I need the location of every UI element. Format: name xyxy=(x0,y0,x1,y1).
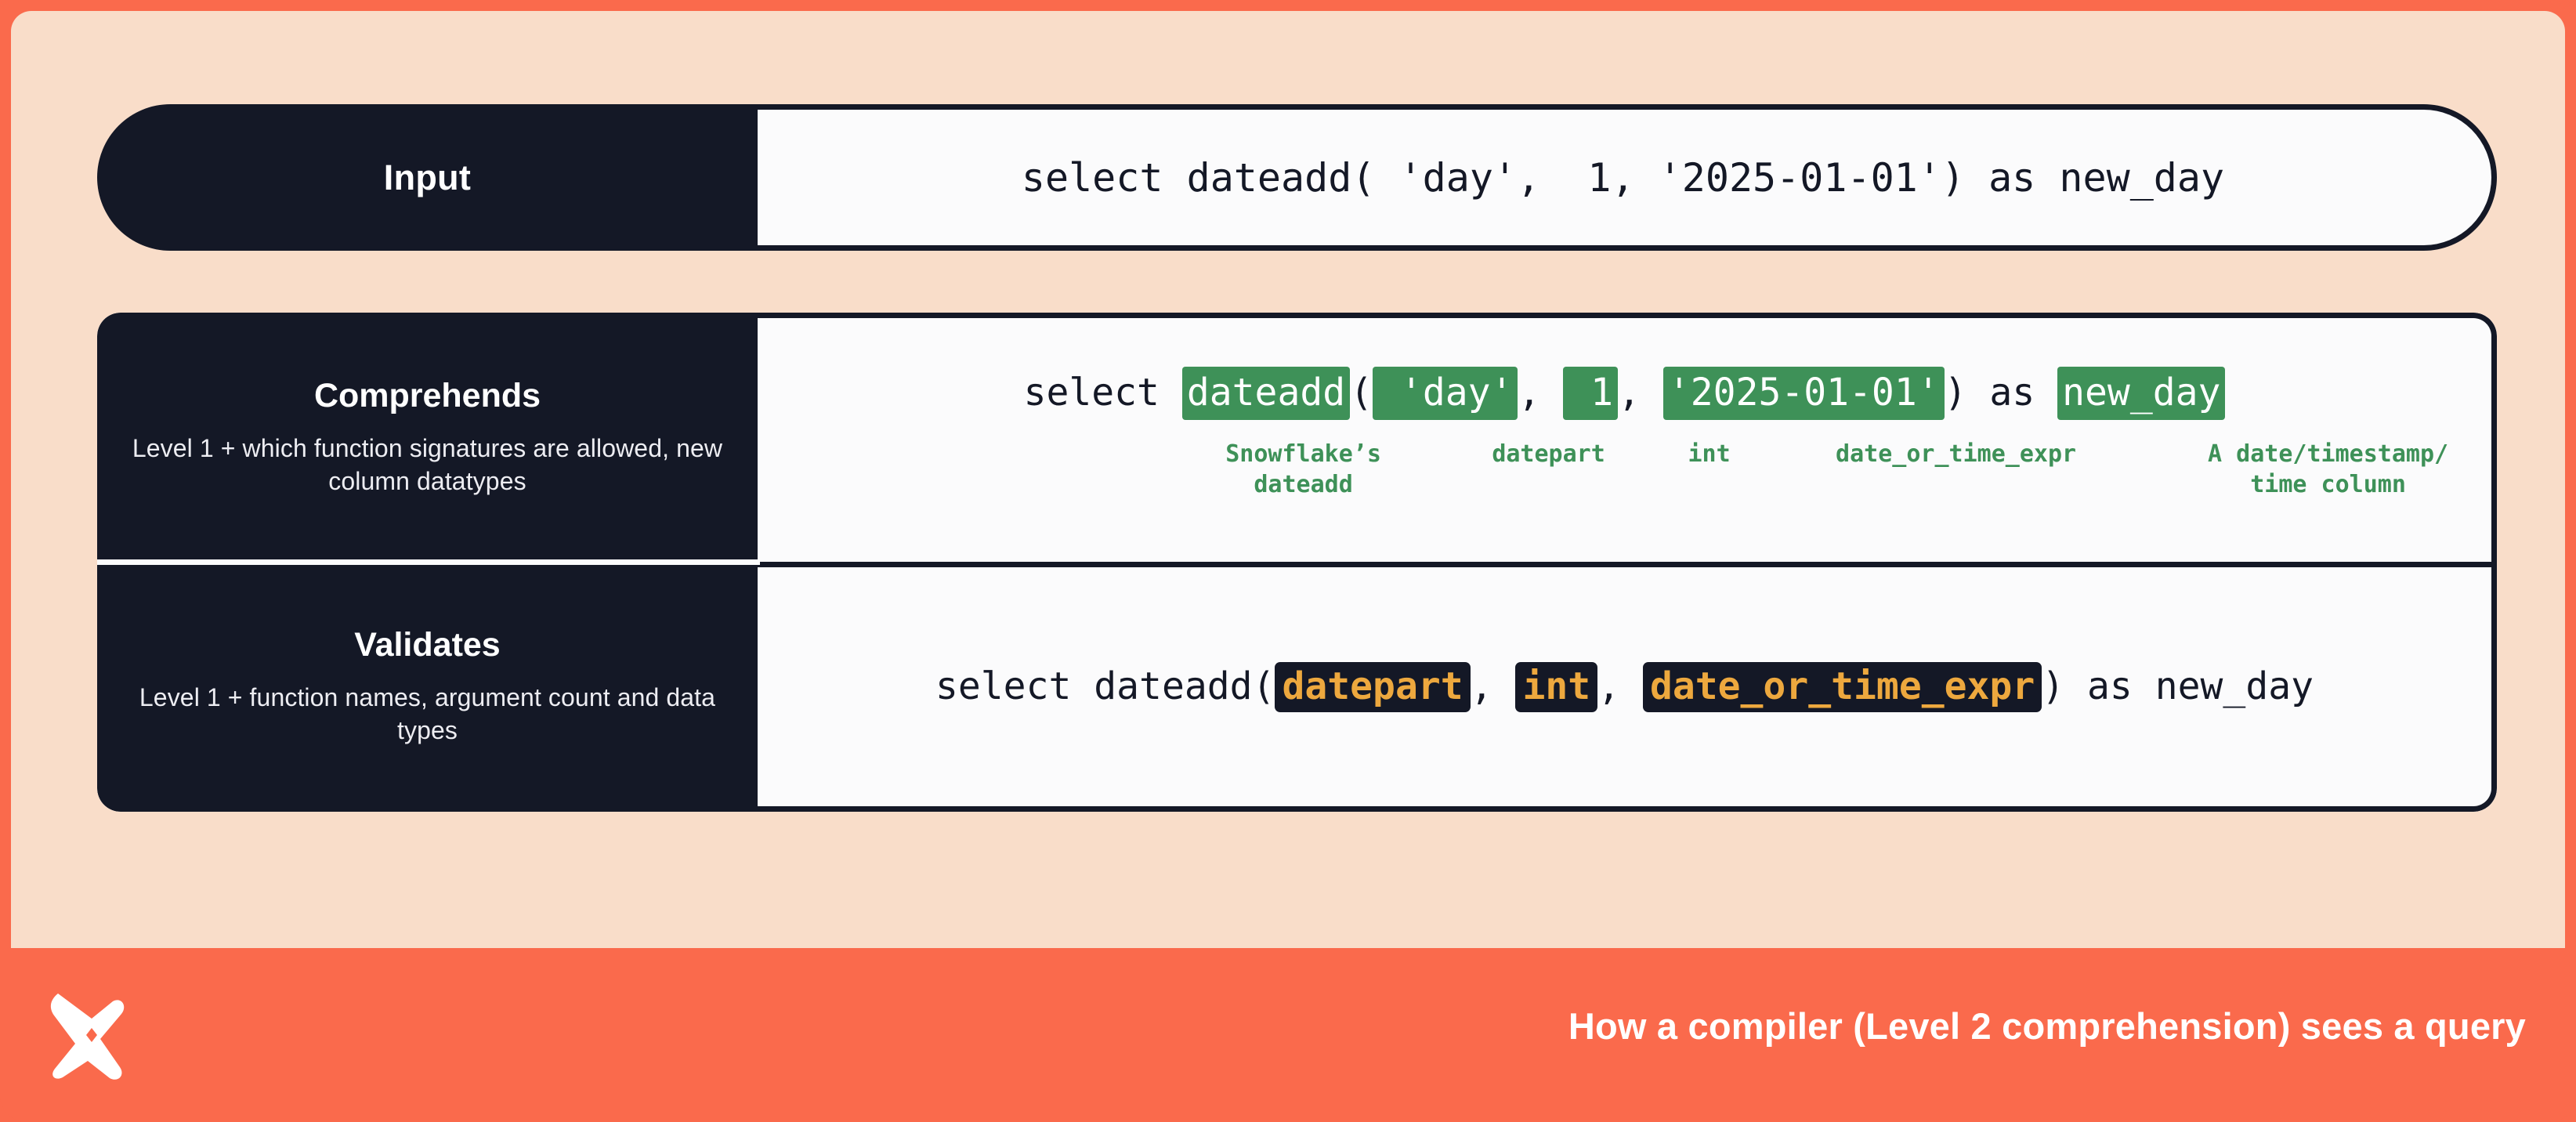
levels-card: Comprehends Level 1 + which function sig… xyxy=(97,313,2497,812)
comprehends-subtitle: Level 1 + which function signatures are … xyxy=(132,433,723,498)
infographic-frame: Input select dateadd( 'day', 1, '2025-01… xyxy=(0,0,2576,1122)
code-token-placeholder: date_or_time_expr xyxy=(1643,662,2042,712)
input-card: Input select dateadd( 'day', 1, '2025-01… xyxy=(97,104,2497,251)
input-code-text: select dateadd( 'day', 1, '2025-01-01') … xyxy=(1022,158,2224,197)
annotation-int: int xyxy=(1651,439,1768,469)
code-token-plain: , xyxy=(1618,374,1663,411)
annotation-date-or-time-expr: date_or_time_expr xyxy=(1772,439,2140,469)
validates-title: Validates xyxy=(354,626,500,664)
input-label-cell: Input xyxy=(97,104,758,251)
butterfly-x-logo xyxy=(47,987,136,1080)
code-token-plain: select dateadd( xyxy=(935,668,1275,705)
comprehends-code-text: select dateadd( 'day', 1, '2025-01-01') … xyxy=(1024,367,2226,420)
row-divider xyxy=(97,559,760,565)
code-token-placeholder: int xyxy=(1515,662,1597,712)
validates-code-cell: select dateadd(datepart, int, date_or_ti… xyxy=(758,562,2497,812)
code-token-plain: , xyxy=(1471,668,1516,705)
code-token-plain: ) xyxy=(1945,374,1967,411)
code-token-highlight: 'day' xyxy=(1373,367,1518,420)
annotation-group: Snowflake’s dateadd datepart int date_or… xyxy=(1024,439,2226,514)
input-code-cell: select dateadd( 'day', 1, '2025-01-01') … xyxy=(754,104,2497,251)
validates-code-text: select dateadd(datepart, int, date_or_ti… xyxy=(935,662,2314,712)
validates-row: Validates Level 1 + function names, argu… xyxy=(97,562,2497,812)
annotation-dateadd: Snowflake’s dateadd xyxy=(1174,439,1433,500)
comprehends-label-cell: Comprehends Level 1 + which function sig… xyxy=(97,313,758,562)
comprehends-code-cell: select dateadd( 'day', 1, '2025-01-01') … xyxy=(758,313,2497,562)
code-token-highlight: 1 xyxy=(1563,367,1618,420)
code-token-plain: ) xyxy=(2042,668,2064,705)
comprehends-title: Comprehends xyxy=(314,377,541,415)
code-token-highlight: dateadd xyxy=(1182,367,1350,420)
code-token-plain: , xyxy=(1597,668,1643,705)
code-token-plain: as xyxy=(1967,374,2058,411)
content-panel: Input select dateadd( 'day', 1, '2025-01… xyxy=(11,11,2565,948)
annotation-datepart: datepart xyxy=(1447,439,1651,469)
footer-caption: How a compiler (Level 2 comprehension) s… xyxy=(1568,1004,2526,1048)
code-token-placeholder: datepart xyxy=(1275,662,1470,712)
annotation-date-column: A date/timestamp/ time column xyxy=(2144,439,2497,500)
code-token-plain: select xyxy=(1024,374,1182,411)
comprehends-row: Comprehends Level 1 + which function sig… xyxy=(97,313,2497,562)
code-token-plain: as new_day xyxy=(2064,668,2314,705)
code-token-highlight: new_day xyxy=(2057,367,2225,420)
footer-bar: How a compiler (Level 2 comprehension) s… xyxy=(0,948,2576,1122)
validates-label-cell: Validates Level 1 + function names, argu… xyxy=(97,562,758,812)
input-label: Input xyxy=(384,157,471,198)
code-token-highlight: '2025-01-01' xyxy=(1663,367,1945,420)
code-token-plain: , xyxy=(1518,374,1563,411)
comprehends-code-block: select dateadd( 'day', 1, '2025-01-01') … xyxy=(1024,367,2226,514)
code-token-plain: ( xyxy=(1350,374,1373,411)
validates-subtitle: Level 1 + function names, argument count… xyxy=(132,682,723,747)
